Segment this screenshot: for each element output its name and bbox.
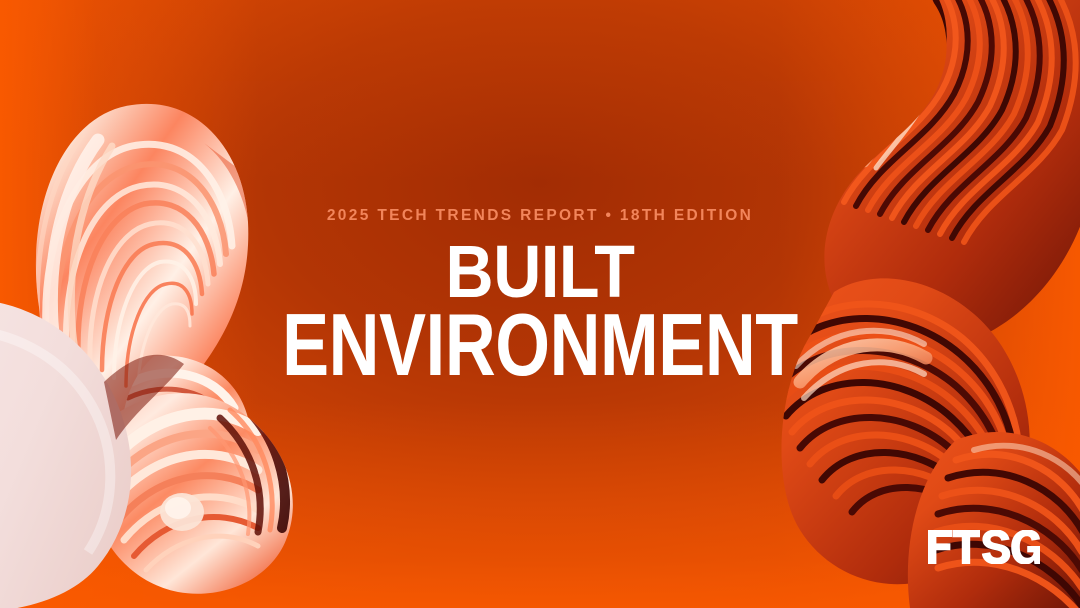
report-cover: 2025 TECH TRENDS REPORT • 18TH EDITION B… xyxy=(0,0,1080,608)
report-eyebrow: 2025 TECH TRENDS REPORT • 18TH EDITION xyxy=(0,206,1080,225)
ftsg-logo xyxy=(928,530,1040,564)
page-title-line-2: ENVIRONMENT xyxy=(108,306,972,383)
cover-text-block: 2025 TECH TRENDS REPORT • 18TH EDITION B… xyxy=(0,206,1080,384)
page-title: BUILT ENVIRONMENT xyxy=(0,239,1080,384)
